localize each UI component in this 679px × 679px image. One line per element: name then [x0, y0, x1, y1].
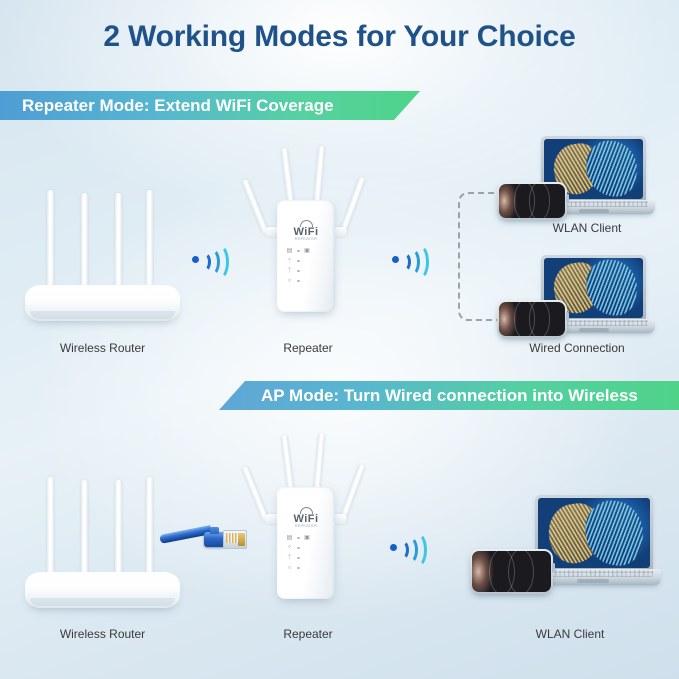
caption-wireless-router-ap: Wireless Router — [25, 627, 180, 641]
signal-led-icon: ▣ — [304, 248, 311, 254]
led-row: ᛜ — [286, 543, 311, 553]
ethernet-cable — [160, 521, 255, 559]
phone-body — [497, 300, 567, 338]
led-row: ○ — [286, 563, 311, 573]
led-row: ᛉ — [286, 553, 311, 563]
repeater-antenna-left — [241, 179, 269, 235]
phone-side-button — [566, 194, 569, 202]
led-row: ○ — [286, 276, 311, 286]
repeater-led-panel: ▤▣ ᛜ ᛉ ○ — [286, 533, 311, 573]
phone-body — [497, 182, 567, 220]
led-dot — [297, 250, 300, 253]
caption-wlan-client: WLAN Client — [497, 221, 677, 235]
wifi-5g-led-icon: ᛉ — [286, 268, 293, 274]
laptop-screen-wallpaper — [538, 498, 650, 568]
router-repeater-mode — [25, 176, 180, 321]
wifi-signal-repeater-to-clients — [392, 245, 426, 273]
phone-screen — [499, 184, 565, 218]
led-dot — [297, 280, 300, 283]
led-dot — [297, 270, 300, 273]
phone-wired-connection — [497, 300, 567, 338]
wifi-24g-led-icon: ᛜ — [286, 545, 293, 551]
led-dot — [297, 547, 300, 550]
phone-screen — [499, 302, 565, 336]
banner-repeater-mode: Repeater Mode: Extend WiFi Coverage — [0, 91, 420, 120]
infographic-canvas: 2 Working Modes for Your Choice Repeater… — [0, 0, 679, 679]
phone-wlan-client-ap-mode — [470, 549, 553, 594]
repeater-antenna-right — [339, 177, 365, 234]
ethernet-plug-clip — [210, 527, 219, 534]
router-body — [25, 285, 180, 321]
repeater-brand-logo: WiFi REPEATER — [277, 507, 335, 528]
phone-side-button — [566, 312, 569, 320]
repeater-logo-subtext: REPEATER — [277, 524, 335, 528]
repeater-led-panel: ▤▣ ᛜ ᛉ ○ — [286, 246, 311, 286]
rj45-connector — [223, 530, 247, 549]
repeater-device-ap-mode: WiFi REPEATER ▤▣ ᛜ ᛉ ○ — [253, 430, 363, 610]
phone-screen — [472, 551, 551, 592]
repeater-brand-logo: WiFi REPEATER — [277, 220, 335, 241]
led-dot — [297, 260, 300, 263]
phone-wlan-client-repeater-mode — [497, 182, 567, 220]
router-body — [25, 572, 180, 608]
wifi-arc-3 — [409, 244, 429, 280]
rj45-gold-contacts — [238, 533, 245, 546]
led-dot — [297, 557, 300, 560]
led-row: ᛉ — [286, 266, 311, 276]
led-row: ▤▣ — [286, 533, 311, 543]
repeater-device-repeater-mode: WiFi REPEATER ▤▣ ᛜ ᛉ ○ — [253, 143, 363, 323]
wifi-signal-repeater-to-client-ap — [390, 533, 424, 561]
power-led-icon: ▤ — [286, 248, 293, 254]
page-title: 2 Working Modes for Your Choice — [0, 20, 679, 54]
wps-led-icon: ○ — [286, 565, 293, 571]
phone-body — [470, 549, 553, 594]
repeater-antenna-left — [241, 466, 269, 522]
wps-led-icon: ○ — [286, 278, 293, 284]
signal-led-icon: ▣ — [304, 535, 311, 541]
led-row: ᛜ — [286, 256, 311, 266]
phone-side-button — [552, 563, 555, 573]
repeater-antenna-right — [339, 464, 365, 521]
wifi-24g-led-icon: ᛜ — [286, 258, 293, 264]
caption-repeater: Repeater — [253, 341, 363, 355]
wifi-5g-led-icon: ᛉ — [286, 555, 293, 561]
wifi-arc-3 — [209, 244, 229, 280]
led-dot — [297, 537, 300, 540]
caption-wireless-router: Wireless Router — [25, 341, 180, 355]
repeater-logo-subtext: REPEATER — [277, 237, 335, 241]
power-led-icon: ▤ — [286, 535, 293, 541]
repeater-body: WiFi REPEATER ▤▣ ᛜ ᛉ ○ — [277, 487, 335, 599]
caption-wired-connection: Wired Connection — [487, 341, 667, 355]
banner-ap-mode: AP Mode: Turn Wired connection into Wire… — [219, 381, 679, 410]
led-dot — [297, 567, 300, 570]
wifi-signal-router-to-repeater — [192, 245, 226, 273]
router-ap-mode — [25, 463, 180, 608]
wifi-arc-3 — [407, 532, 427, 568]
repeater-body: WiFi REPEATER ▤▣ ᛜ ᛉ ○ — [277, 200, 335, 312]
caption-repeater-ap: Repeater — [253, 627, 363, 641]
caption-wlan-client-ap: WLAN Client — [480, 627, 660, 641]
led-row: ▤▣ — [286, 246, 311, 256]
